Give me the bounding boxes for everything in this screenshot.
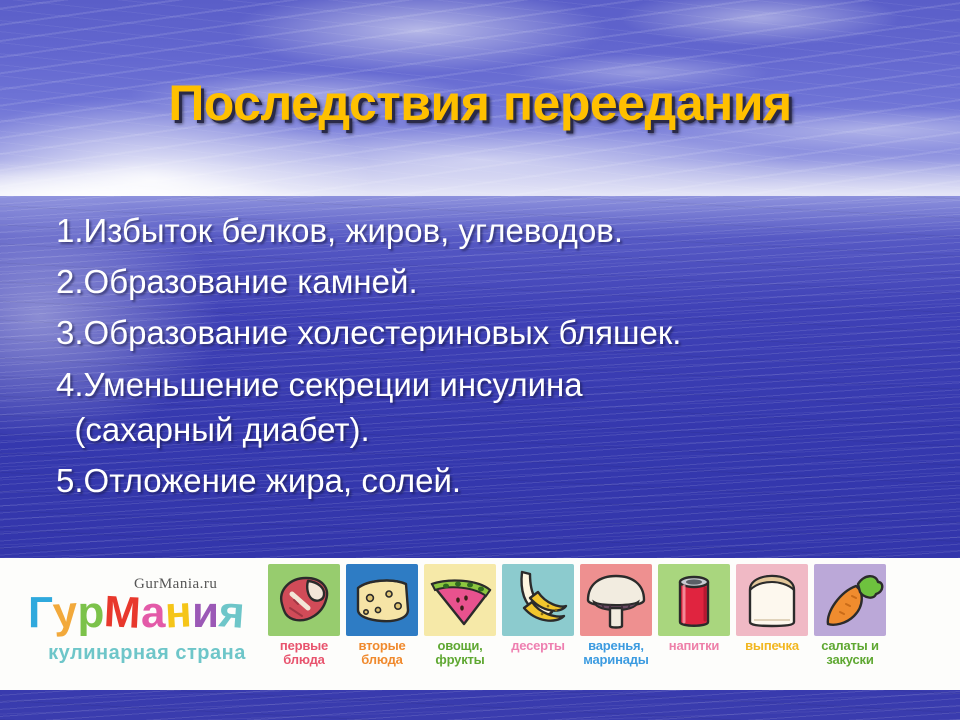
- category-tile[interactable]: овощи, фрукты: [422, 562, 498, 688]
- steak-icon: [268, 564, 340, 636]
- consequences-list: 1.Избыток белков, жиров, углеводов. 2.Об…: [56, 208, 936, 509]
- category-tile[interactable]: десерты: [500, 562, 576, 688]
- gurmania-logo[interactable]: GurMania.ru ГурМания кулинарная страна: [18, 566, 262, 682]
- category-label: салаты и закуски: [812, 639, 888, 666]
- logo-letter: я: [217, 587, 246, 639]
- category-tile[interactable]: вторые блюда: [344, 562, 420, 688]
- category-label: овощи, фрукты: [422, 639, 498, 666]
- category-tile[interactable]: салаты и закуски: [812, 562, 888, 688]
- list-item: 4.Уменьшение секреции инсулина (сахарный…: [56, 362, 936, 452]
- list-item: 5.Отложение жира, солей.: [56, 458, 936, 503]
- category-tiles: первые блюдавторые блюдаовощи, фруктыдес…: [266, 562, 890, 688]
- banana-icon: [502, 564, 574, 636]
- category-label: первые блюда: [266, 639, 342, 666]
- gurmania-banner: GurMania.ru ГурМания кулинарная страна п…: [0, 558, 960, 690]
- logo-tagline: кулинарная страна: [30, 642, 264, 665]
- mushroom-icon: [580, 564, 652, 636]
- logo-letter: н: [164, 587, 193, 638]
- category-label: десерты: [500, 639, 576, 653]
- watermelon-icon: [424, 564, 496, 636]
- bread-icon: [736, 564, 808, 636]
- logo-wordmark: ГурМания: [28, 588, 264, 638]
- cheese-icon: [346, 564, 418, 636]
- slide-canvas: Последствия переедания 1.Избыток белков,…: [0, 0, 960, 720]
- category-tile[interactable]: выпечка: [734, 562, 810, 688]
- category-tile[interactable]: напитки: [656, 562, 732, 688]
- list-item: 2.Образование камней.: [56, 259, 936, 304]
- logo-letter: и: [192, 588, 219, 638]
- category-label: напитки: [656, 639, 732, 653]
- list-item: 3.Образование холестериновых бляшек.: [56, 310, 936, 355]
- category-tile[interactable]: варенья, маринады: [578, 562, 654, 688]
- category-label: варенья, маринады: [578, 639, 654, 666]
- logo-letter: у: [51, 587, 79, 639]
- logo-letter: а: [141, 588, 165, 638]
- category-label: вторые блюда: [344, 639, 420, 666]
- category-tile[interactable]: первые блюда: [266, 562, 342, 688]
- soda-can-icon: [658, 564, 730, 636]
- logo-letter: р: [77, 588, 104, 638]
- logo-letter: М: [103, 587, 142, 639]
- list-item: 1.Избыток белков, жиров, углеводов.: [56, 208, 936, 253]
- carrot-icon: [814, 564, 886, 636]
- category-label: выпечка: [734, 639, 810, 653]
- logo-letter: Г: [28, 588, 53, 638]
- page-title: Последствия переедания: [0, 74, 960, 132]
